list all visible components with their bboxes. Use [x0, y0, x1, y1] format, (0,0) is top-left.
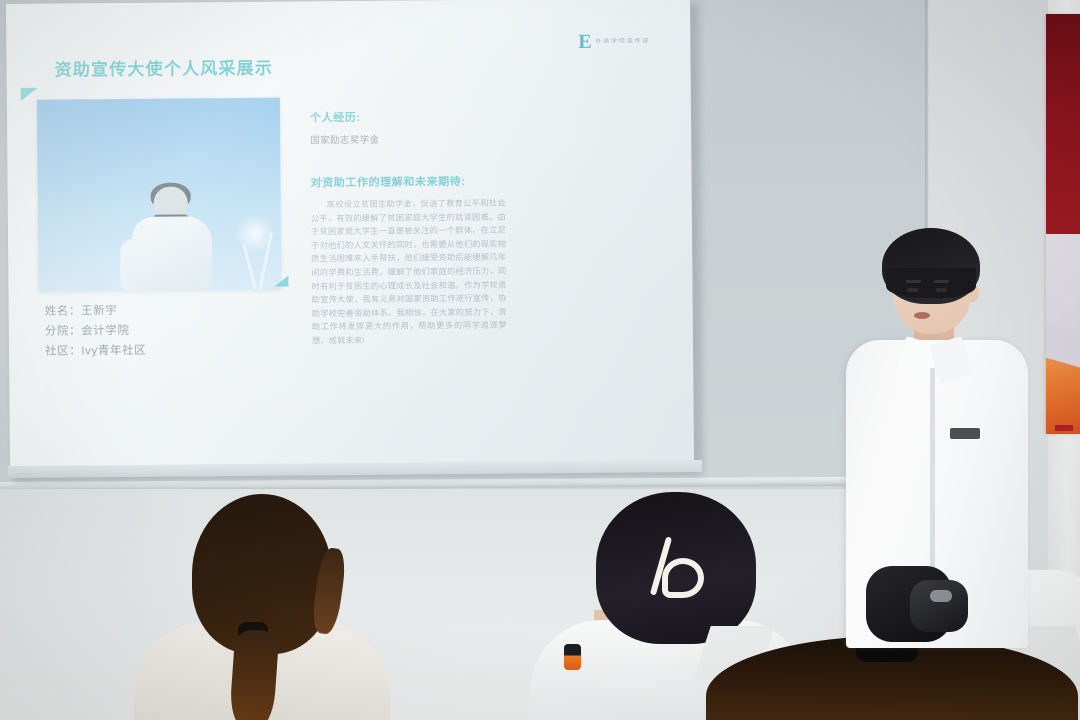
presenter-hair: [882, 228, 980, 304]
triangle-decor-top-left-icon: [21, 88, 38, 101]
section-heading-experience: 个人经历:: [310, 108, 505, 126]
presenter-pocket-detail: [950, 428, 980, 439]
audience-2-badge: [564, 644, 581, 670]
meta-label-department: 分院：: [45, 325, 81, 337]
meta-row-community: 社区：Ivy青年社区: [45, 341, 146, 362]
meta-value-department: 会计学院: [81, 325, 130, 337]
audience-2-hair-clip: [650, 536, 698, 602]
meta-row-department: 分院：会计学院: [45, 321, 146, 342]
meta-value-name: 王新宇: [81, 305, 117, 317]
organization-logo: E 外 语 学 院 宣 传 部: [578, 31, 648, 52]
presenter-mouth: [914, 312, 930, 319]
meta-label-name: 姓名：: [45, 305, 81, 317]
meta-value-community: Ivy青年社区: [81, 345, 146, 358]
presenter-object-highlight: [930, 590, 952, 602]
audience-member-1: [140, 494, 380, 720]
presenter-eye-left: [907, 288, 918, 292]
meta-label-community: 社区：: [45, 345, 81, 357]
slide-content: E 外 语 学 院 宣 传 部 资助宣传大使个人风采展示: [6, 0, 694, 472]
poster-chip: [1055, 425, 1073, 431]
student-photo: [37, 98, 282, 292]
photo-scene: 务作 E 外 语 学 院 宣 传 部 资助宣传大使个人风采展示: [0, 0, 1080, 720]
presenter-brow-right: [934, 280, 949, 283]
meta-row-name: 姓名：王新宇: [45, 301, 146, 322]
student-meta-block: 姓名：王新宇 分院：会计学院 社区：Ivy青年社区: [45, 301, 147, 362]
logo-mark-icon: E: [578, 32, 592, 52]
presenter-eye-right: [936, 288, 947, 292]
section-body-experience: 国家励志奖学金: [310, 131, 505, 147]
section-body-reflection: 高校设立贫困生助学金，促进了教育公平和社会公平，有效的缓解了贫困家庭大学生的就读…: [311, 197, 507, 348]
audience-1-ponytail: [229, 629, 280, 720]
screen-surface: E 外 语 学 院 宣 传 部 资助宣传大使个人风采展示: [6, 0, 694, 472]
triangle-decor-bottom-right-icon: [274, 276, 288, 287]
logo-wordmark: 外 语 学 院 宣 传 部: [596, 38, 649, 45]
presenter: [838, 228, 1053, 648]
slide-text-column: 个人经历: 国家励志奖学金 对资助工作的理解和未来期待: 高校设立贫困生助学金，…: [310, 108, 507, 348]
presenter-held-object-front: [910, 580, 968, 632]
photo-subject: [126, 186, 219, 292]
presenter-brow-left: [906, 280, 921, 283]
poster-header-band: [1046, 14, 1080, 234]
slide-title: 资助宣传大使个人风采展示: [54, 54, 273, 81]
section-heading-reflection: 对资助工作的理解和未来期待:: [310, 173, 505, 191]
photo-subject-arm: [120, 239, 146, 292]
projection-screen: E 外 语 学 院 宣 传 部 资助宣传大使个人风采展示: [6, 0, 700, 482]
